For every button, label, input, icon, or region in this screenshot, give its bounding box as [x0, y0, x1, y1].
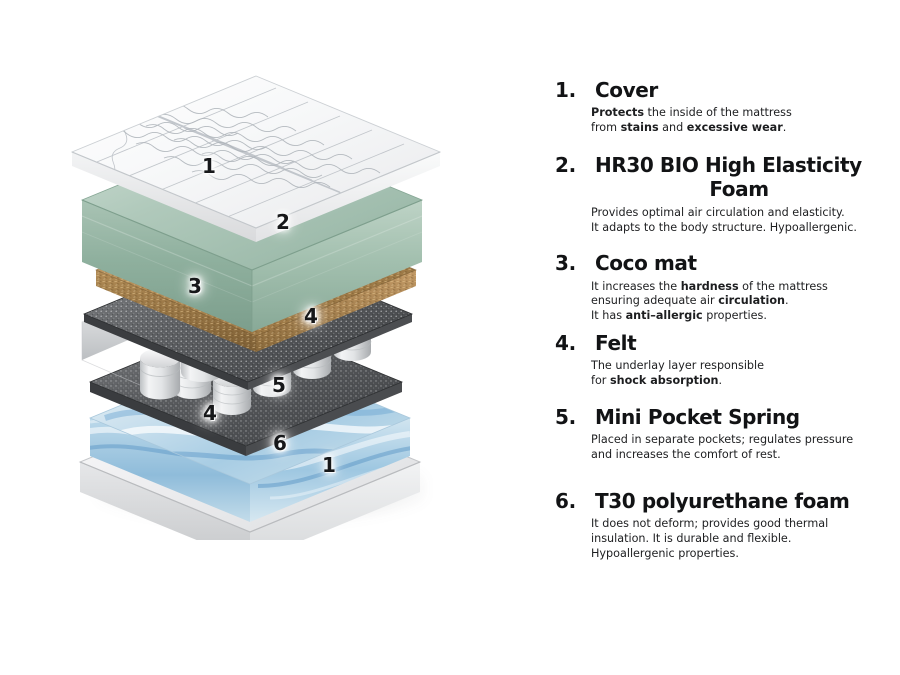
- legend-item-t30-polyurethane-foam: 6. T30 polyurethane foam: [555, 489, 895, 515]
- mattress-exploded-illustration: 1 2 3 4 5 6 4 1: [0, 0, 520, 675]
- legend-number-1: 1.: [555, 78, 595, 103]
- legend-item-hr30-bio-foam: 2. HR30 BIO High Elasticity Foam: [555, 153, 895, 204]
- legend-desc-6: It does not deform; provides good therma…: [591, 517, 895, 561]
- legend-number-5: 5.: [555, 405, 595, 430]
- callout-3-coco-mat: 3: [188, 276, 202, 296]
- legend-desc-5: Placed in separate pockets; regulates pr…: [591, 433, 895, 463]
- legend-item-coco-mat: 3. Coco mat: [555, 251, 895, 277]
- callout-1-cover-top: 1: [202, 156, 216, 176]
- legend-item-cover: 1. Cover: [555, 78, 895, 104]
- layer-stack: 1 2 3 4 5 6 4 1: [60, 70, 460, 540]
- callout-4-felt-upper: 4: [304, 306, 318, 326]
- legend-item-felt: 4. Felt: [555, 331, 895, 357]
- callout-4-felt-lower: 4: [203, 403, 217, 423]
- legend-desc-2: Provides optimal air circulation and ela…: [591, 206, 895, 236]
- legend-desc-1: Protects the inside of the mattressfrom …: [591, 106, 895, 136]
- legend-desc-4: The underlay layer responsiblefor shock …: [591, 359, 895, 389]
- layer-cover-top: [60, 70, 460, 540]
- callout-6-t30-foam: 6: [273, 433, 287, 453]
- legend-item-mini-pocket-spring: 5. Mini Pocket Spring: [555, 405, 895, 431]
- legend-title-2: HR30 BIO High Elasticity Foam: [595, 153, 895, 202]
- legend-title-3: Coco mat: [595, 251, 895, 275]
- legend-number-4: 4.: [555, 331, 595, 356]
- legend-title-2-line2: Foam: [595, 177, 895, 201]
- diagram-page: 1 2 3 4 5 6 4 1 1. Cover Protects the in…: [0, 0, 900, 675]
- legend-list: 1. Cover Protects the inside of the matt…: [555, 78, 895, 562]
- legend-title-6: T30 polyurethane foam: [595, 489, 895, 513]
- legend-title-1: Cover: [595, 78, 895, 102]
- legend-desc-3: It increases the hardness of the mattres…: [591, 280, 895, 324]
- callout-5-mini-pocket-spring: 5: [272, 375, 286, 395]
- callout-1-cover-bottom: 1: [322, 455, 336, 475]
- callout-2-hr30-foam: 2: [276, 212, 290, 232]
- legend-title-4: Felt: [595, 331, 895, 355]
- legend-title-5: Mini Pocket Spring: [595, 405, 895, 429]
- legend-number-3: 3.: [555, 251, 595, 276]
- legend-title-2-line1: HR30 BIO High Elasticity: [595, 153, 862, 177]
- legend-number-6: 6.: [555, 489, 595, 514]
- legend-number-2: 2.: [555, 153, 595, 178]
